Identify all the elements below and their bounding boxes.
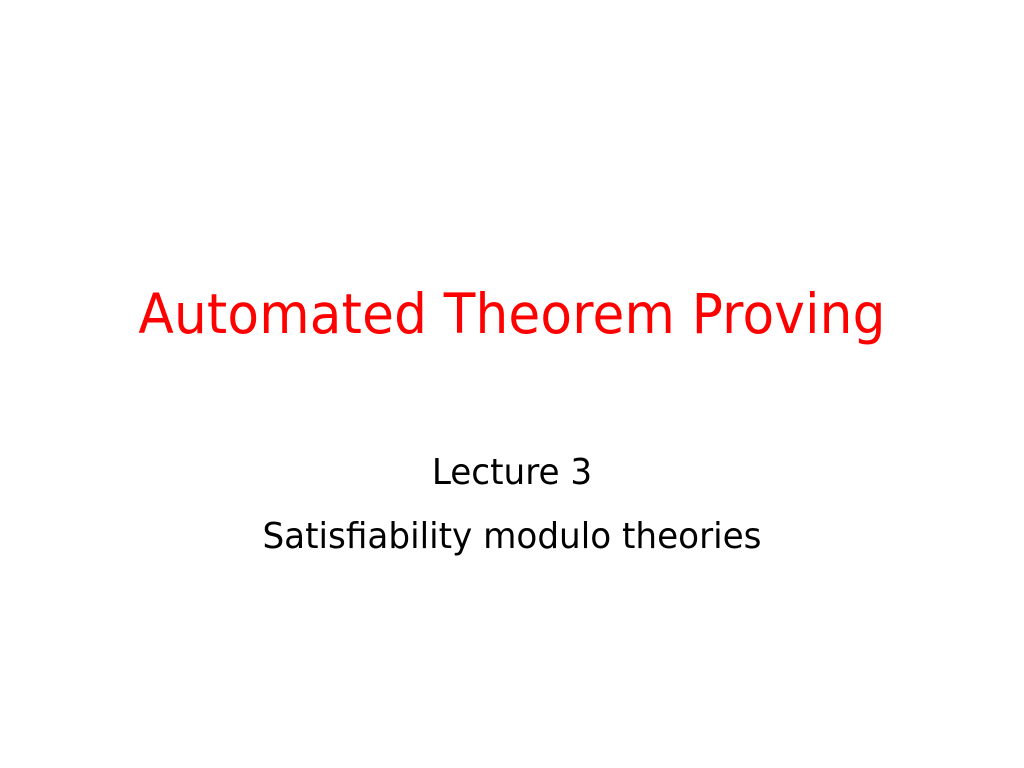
- subtitle-line-topic: Satisfiability modulo theories: [26, 505, 999, 569]
- presentation-slide: Automated Theorem Proving Lecture 3 Sati…: [0, 0, 1024, 768]
- slide-title-placeholder[interactable]: Automated Theorem Proving: [0, 282, 1024, 346]
- slide-title: Automated Theorem Proving: [31, 282, 994, 346]
- slide-subtitle-placeholder[interactable]: Lecture 3 Satisfiability modulo theories: [0, 441, 1024, 569]
- subtitle-line-lecture: Lecture 3: [26, 441, 999, 505]
